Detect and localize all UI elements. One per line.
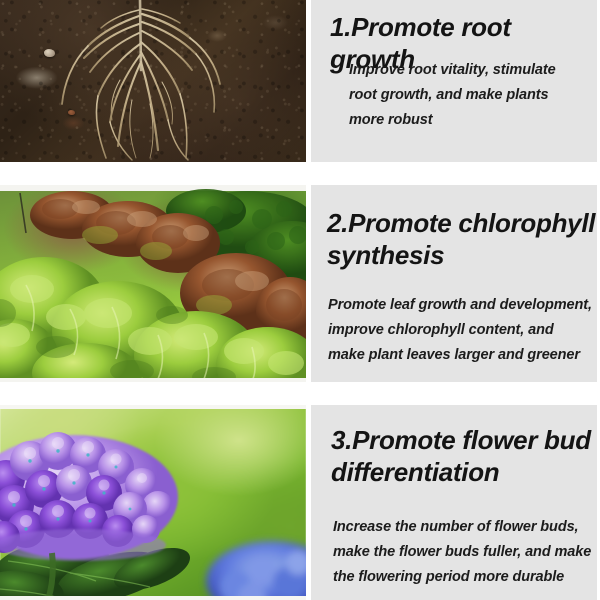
benefit-panel-2: 2.Promote chlorophyll synthesis Promote … [0,185,600,382]
purple-hydrangea-photo [0,405,306,600]
benefit-panel-3: 3.Promote flower bud differentiation Inc… [0,405,600,600]
benefit-panel-1: 1.Promote root growth Improve root vital… [0,0,600,162]
plant-roots-in-soil-photo [0,0,306,162]
benefit-text-card-2: 2.Promote chlorophyll synthesis Promote … [311,185,597,382]
benefit-text-card-1: 1.Promote root growth Improve root vital… [311,0,597,162]
benefit-text-card-3: 3.Promote flower bud differentiation Inc… [311,405,597,600]
lettuce-leaves-illustration [0,185,306,382]
benefit-body-2: Promote leaf growth and development, imp… [328,293,596,368]
benefit-heading-2: 2.Promote chlorophyll synthesis [327,207,597,271]
hydrangea-bloom-illustration [0,405,306,600]
benefit-body-3: Increase the number of flower buds, make… [333,515,597,590]
lettuce-garden-photo [0,185,306,382]
benefit-body-1: Improve root vitality, stimulate root gr… [349,58,589,133]
root-system-illustration [0,0,306,162]
benefits-infographic: 1.Promote root growth Improve root vital… [0,0,600,600]
benefit-heading-3: 3.Promote flower bud differentiation [331,424,597,488]
